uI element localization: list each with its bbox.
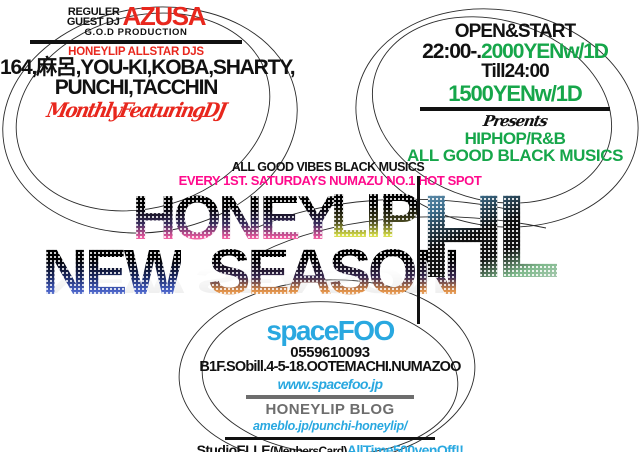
hl-monogram: HL: [420, 178, 557, 296]
monthly-featuring-script: MonthlyFeaturingDJ: [9, 100, 263, 120]
venue-phone: 0559610093: [170, 345, 490, 361]
top-left-lineup-block: REGULER GUEST DJ AZUSA G.O.D PRODUCTION …: [0, 6, 272, 120]
dj-list-line-1: 164,麻呂,YOU-KI,KOBA,SHARTY,: [0, 58, 272, 78]
studio-name: StudioELLE: [197, 442, 270, 452]
guest-dj-name: AZUSA: [123, 6, 206, 27]
till-time: Till24:00: [390, 62, 640, 82]
title-word-new: NEW: [42, 240, 181, 304]
divider-rule-right: [420, 107, 610, 111]
venue-logo-space: space: [266, 315, 337, 346]
studio-note: (MenbersCard): [270, 444, 347, 452]
genre-line-1: HIPHOP/R&B: [390, 130, 640, 147]
presents-script: Presents: [389, 113, 640, 130]
guest-dj-label: GUEST DJ: [67, 17, 120, 27]
venue-logo-foo: FOO: [338, 315, 394, 346]
venue-logo: spaceFOO: [170, 318, 490, 345]
studio-offer-row: StudioELLE(MenbersCard)AllTime500yenOff!…: [170, 442, 490, 452]
guest-dj-labels: REGULER GUEST DJ: [67, 7, 120, 27]
studio-offer: AllTime500yenOff!!: [347, 442, 464, 452]
open-price-row: 22:00-.2000YENw/1D: [390, 41, 640, 62]
blog-url-link[interactable]: ameblo.jp/punchi-honeylip/: [170, 419, 490, 434]
open-time: 22:00-.: [422, 40, 481, 63]
dj-list-line-2: PUNCHI,TACCHIN: [0, 78, 272, 98]
bottom-venue-block: spaceFOO 0559610093 B1F.SObill.4-5-18.OO…: [170, 318, 490, 452]
blog-label: HONEYLIP BLOG: [170, 401, 490, 418]
flyer-canvas: REGULER GUEST DJ AZUSA G.O.D PRODUCTION …: [0, 0, 640, 452]
top-right-info-block: OPEN&START 22:00-.2000YENw/1D Till24:00 …: [390, 22, 640, 165]
open-start-label: OPEN&START: [390, 22, 640, 41]
guest-dj-row: REGULER GUEST DJ AZUSA: [0, 6, 272, 27]
venue-website-link[interactable]: www.spacefoo.jp: [170, 376, 490, 393]
divider-rule-bottom: [246, 395, 414, 399]
divider-rule-bottom-2: [225, 437, 435, 440]
venue-address: B1F.SObill.4-5-18.OOTEMACHI.NUMAZOO: [170, 360, 490, 375]
open-price: 2000YENw/1D: [481, 40, 608, 63]
production-label: G.O.D PRODUCTION: [0, 27, 272, 38]
till-price: 1500YENw/1D: [390, 82, 640, 105]
divider-rule: [30, 40, 242, 44]
